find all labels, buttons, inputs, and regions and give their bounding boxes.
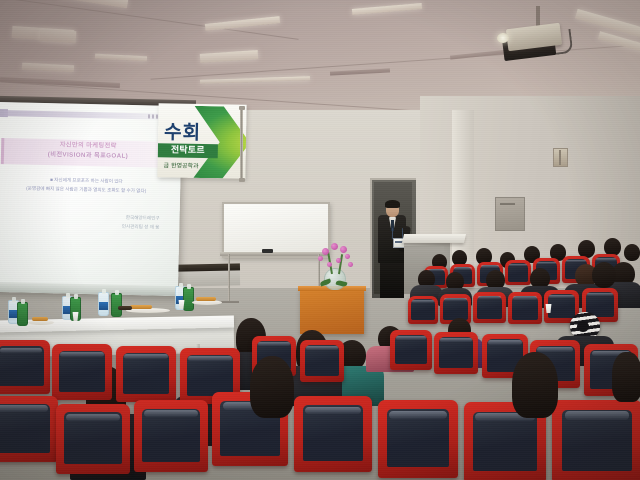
water-bottle[interactable]	[98, 292, 109, 316]
auditorium-seat[interactable]	[505, 260, 531, 285]
orchid-bloom	[336, 258, 341, 263]
orchid-bloom	[331, 243, 338, 250]
slide-title: 자신만의 마케팅전략 (비전VISION과 목표GOAL)	[13, 139, 163, 162]
striped-beanie	[570, 312, 600, 339]
banner-chevron-graphic	[193, 106, 246, 179]
auditorium-seat[interactable]	[116, 346, 176, 402]
auditorium-seat[interactable]	[294, 396, 372, 472]
banner-pole	[240, 108, 243, 180]
auditorium-seat[interactable]	[408, 296, 438, 324]
auditorium-seat[interactable]	[300, 340, 344, 382]
orchid-bloom	[318, 256, 323, 261]
whiteboard-foot	[219, 301, 239, 303]
whiteboard-marker[interactable]	[262, 249, 273, 253]
auditorium-seat[interactable]	[508, 292, 542, 324]
auditorium-seat[interactable]	[134, 400, 208, 472]
whiteboard-tray	[220, 252, 328, 256]
orchid-bloom	[327, 262, 332, 267]
orchid-bloom	[348, 262, 353, 267]
lecture-hall-photo: 자신만의 마케팅전략 (비전VISION과 목표GOAL) ■ 자신에게 프로포…	[0, 0, 640, 480]
orchid-bloom	[340, 246, 347, 253]
wall-control-panel[interactable]	[495, 197, 525, 231]
orchid-bloom	[322, 248, 329, 255]
auditorium-seat[interactable]	[0, 396, 58, 462]
auditorium-seat[interactable]	[552, 400, 640, 480]
wall-speaker	[553, 148, 568, 167]
auditorium-seat[interactable]	[0, 340, 50, 394]
wall-banner: 수회 전탁토르 금 한영공학과	[157, 103, 246, 179]
screen-glare	[0, 102, 182, 296]
presenter-legs	[380, 260, 404, 298]
green-bottle[interactable]	[183, 287, 194, 311]
banner-subtext: 금 한영공학과	[163, 160, 198, 170]
lectern-top	[402, 234, 466, 243]
snack	[130, 305, 152, 309]
side-table	[300, 288, 364, 334]
slide-body: ■ 자신에게 프로포즈 하는 사람이 있다 (운명감에 빠지 않은 사람은 기쁨…	[4, 174, 168, 196]
orchid-bloom	[345, 254, 350, 259]
auditorium-seat[interactable]	[56, 404, 130, 474]
snack	[32, 317, 48, 321]
green-bottle[interactable]	[111, 293, 122, 317]
whiteboard	[222, 202, 330, 258]
auditorium-seat[interactable]	[473, 292, 506, 323]
presenter-hair	[385, 200, 400, 208]
auditorium-seat[interactable]	[390, 330, 432, 370]
snack	[118, 306, 132, 310]
whiteboard-leg	[228, 254, 230, 302]
snack	[196, 297, 216, 301]
green-bottle[interactable]	[17, 302, 28, 326]
slide-footer: 한국해양드레인구 인사관리팀 성 재 웅	[49, 211, 159, 231]
banner-headline: 수회	[164, 117, 201, 145]
banner-green-label: 전탁토르	[158, 143, 218, 158]
auditorium-seat[interactable]	[52, 344, 112, 400]
auditorium-seat[interactable]	[378, 400, 458, 478]
auditorium-seat[interactable]	[434, 332, 478, 374]
projection-screen: 자신만의 마케팅전략 (비전VISION과 목표GOAL) ■ 자신에게 프로포…	[0, 102, 182, 296]
